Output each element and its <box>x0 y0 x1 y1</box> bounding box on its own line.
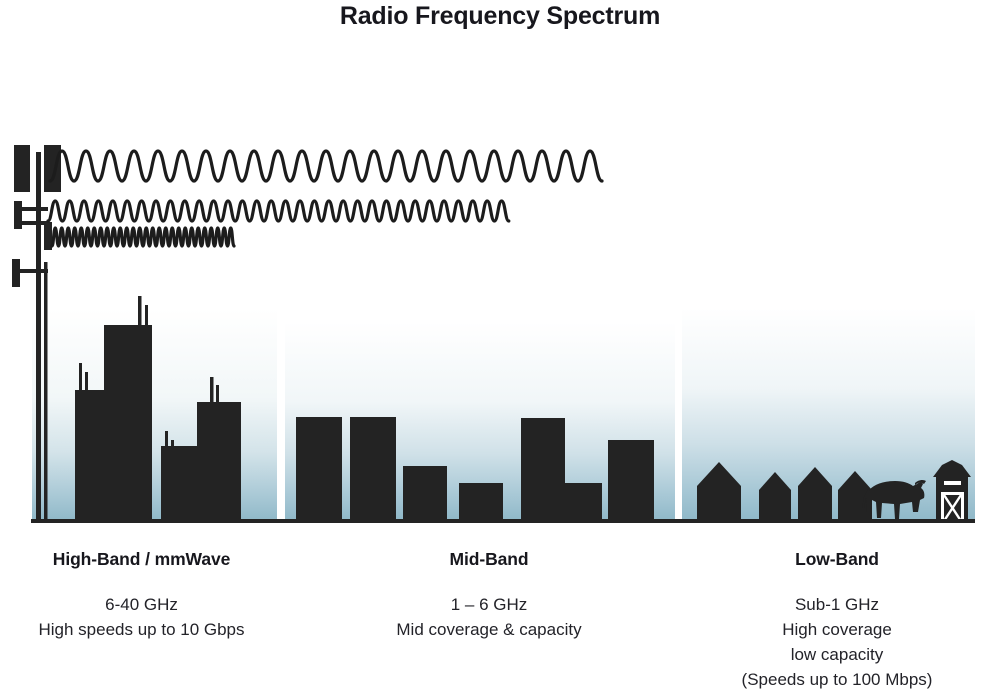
mid-frequency-wave <box>48 201 509 221</box>
band-detail-low-band-2: low capacity <box>692 642 982 667</box>
infographic-canvas: Radio Frequency Spectrum <box>0 0 1000 700</box>
band-label-high-band: High-Band / mmWave <box>0 549 283 570</box>
tower-crossarm <box>20 207 48 211</box>
band-description-mid-band: 1 – 6 GHz Mid coverage & capacity <box>339 592 639 642</box>
barn-loft-window <box>944 481 961 485</box>
building-spire <box>145 305 148 326</box>
midrise-building <box>521 418 565 521</box>
band-frequency-mid-band: 1 – 6 GHz <box>339 592 639 617</box>
band-detail-high-band: High speeds up to 10 Gbps <box>0 617 283 642</box>
high-frequency-wave <box>52 228 234 246</box>
tower-crossarm <box>18 269 48 273</box>
city-building <box>75 390 107 521</box>
band-detail-mid-band: Mid coverage & capacity <box>339 617 639 642</box>
ground-line <box>31 519 975 523</box>
low-frequency-wave <box>50 151 602 181</box>
band-description-low-band: Sub-1 GHz High coverage low capacity (Sp… <box>692 592 982 692</box>
tower-mast-secondary <box>44 262 48 521</box>
midrise-building <box>459 483 503 521</box>
band-description-high-band: 6-40 GHz High speeds up to 10 Gbps <box>0 592 283 642</box>
band-label-low-band: Low-Band <box>692 549 982 570</box>
antenna-panel <box>14 145 30 192</box>
band-detail-low-band-3: (Speeds up to 100 Mbps) <box>692 667 982 692</box>
page-title: Radio Frequency Spectrum <box>0 2 1000 31</box>
band-label-mid-band: Mid-Band <box>339 549 639 570</box>
band-detail-low-band-1: High coverage <box>692 617 982 642</box>
midrise-building <box>296 417 342 521</box>
band-frequency-low-band: Sub-1 GHz <box>692 592 982 617</box>
radio-waves <box>48 151 602 246</box>
building-spire <box>138 296 142 326</box>
city-building <box>197 402 241 521</box>
city-building <box>161 446 199 521</box>
tower-crossarm <box>20 221 48 225</box>
building-spire <box>210 377 214 403</box>
midrise-building <box>608 440 654 521</box>
midrise-building <box>564 483 602 521</box>
midrise-building <box>350 417 396 521</box>
city-building <box>104 325 152 521</box>
midrise-building <box>403 466 447 521</box>
band-frequency-high-band: 6-40 GHz <box>0 592 283 617</box>
building-spire <box>216 385 219 403</box>
